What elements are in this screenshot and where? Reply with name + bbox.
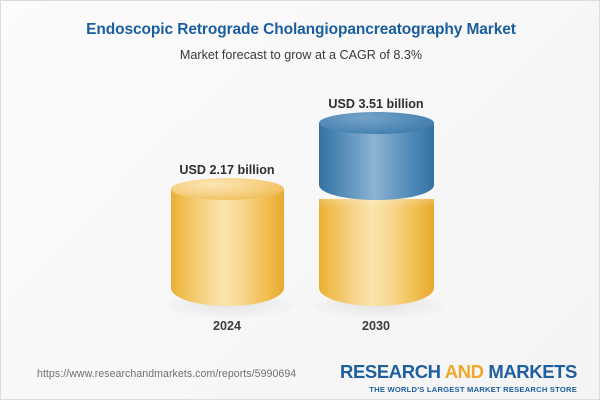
logo-word-and: AND xyxy=(445,361,484,382)
logo-wordmark: RESEARCH AND MARKETS xyxy=(340,361,577,383)
bar-segment-seam-2030 xyxy=(319,199,434,208)
logo-tagline: THE WORLD'S LARGEST MARKET RESEARCH STOR… xyxy=(340,385,577,394)
chart-footer: https://www.researchandmarkets.com/repor… xyxy=(1,353,600,399)
bar-value-label-2030: USD 3.51 billion xyxy=(276,97,476,111)
logo-word-research: RESEARCH xyxy=(340,361,441,382)
bar-top-face-2030 xyxy=(319,112,434,134)
chart-plot-area: USD 2.17 billion 2024 USD 3.51 billion xyxy=(1,1,600,401)
research-and-markets-logo[interactable]: RESEARCH AND MARKETS THE WORLD'S LARGEST… xyxy=(340,361,577,394)
bar-segment-growth-2030 xyxy=(319,123,434,200)
logo-word-markets: MARKETS xyxy=(488,361,577,382)
bar-segment-base-2030 xyxy=(319,199,434,306)
bar-group-2030[interactable]: USD 3.51 billion 2030 xyxy=(1,1,600,401)
bar-cylinder-2030 xyxy=(319,112,434,306)
bar-category-label-2030: 2030 xyxy=(276,319,476,333)
chart-card: Endoscopic Retrograde Cholangiopancreato… xyxy=(0,0,600,400)
source-url-link[interactable]: https://www.researchandmarkets.com/repor… xyxy=(37,368,296,380)
